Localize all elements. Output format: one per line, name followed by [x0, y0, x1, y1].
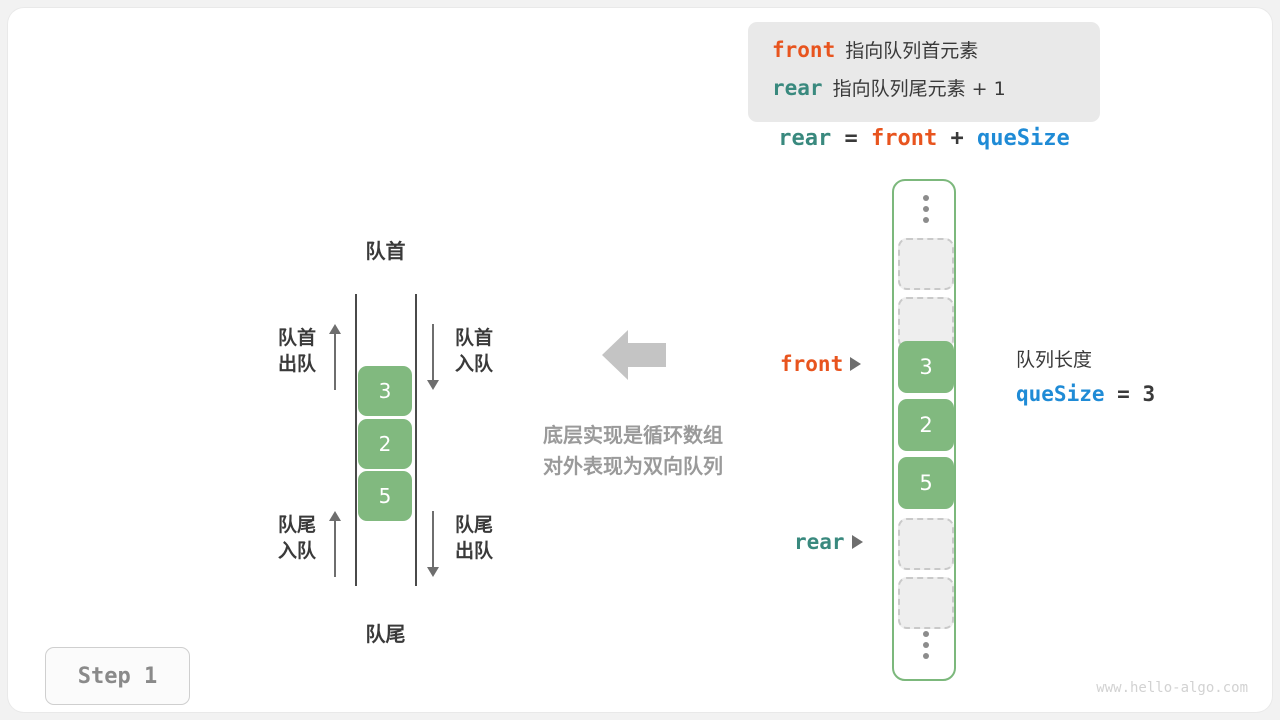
ellipsis-bottom-icon: [894, 631, 958, 659]
quesize-equals: =: [1117, 382, 1130, 406]
formula-rear-equals-front-plus-quesize: rear = front + queSize: [748, 126, 1100, 151]
pointer-rear: rear: [794, 530, 863, 554]
center-note: 底层实现是循环数组 对外表现为双向队列: [498, 420, 768, 482]
legend-desc-front: 指向队列首元素: [845, 36, 978, 63]
legend-row-rear: rear 指向队列尾元素 + 1: [772, 74, 1006, 101]
formula-plus: +: [951, 126, 964, 151]
diagram-card: front 指向队列首元素 rear 指向队列尾元素 + 1 rear = fr…: [8, 8, 1272, 712]
deque-rail-right: [415, 294, 417, 586]
legend-box: front 指向队列首元素 rear 指向队列尾元素 + 1: [748, 22, 1100, 122]
formula-rear: rear: [778, 126, 831, 151]
circular-array-frame: 3 2 5: [892, 179, 956, 681]
step-badge: Step 1: [45, 647, 190, 705]
deque-rail-left: [355, 294, 357, 586]
legend-row-front: front 指向队列首元素: [772, 36, 978, 63]
legend-key-front: front: [772, 38, 835, 62]
pointer-rear-label: rear: [794, 530, 845, 554]
array-slot-4[interactable]: 5: [898, 457, 954, 509]
op-label-head-dequeue: 队首出队: [256, 326, 316, 377]
op-label-tail-dequeue: 队尾出队: [455, 513, 493, 564]
op-label-tail-enqueue: 队尾入队: [256, 513, 316, 564]
pointer-front-label: front: [780, 352, 843, 376]
legend-desc-rear: 指向队列尾元素 + 1: [833, 74, 1006, 101]
legend-key-rear: rear: [772, 76, 823, 100]
arrow-down-head-enqueue-icon: [426, 324, 440, 394]
center-note-line1: 底层实现是循环数组: [498, 420, 768, 451]
deque-head-label: 队首: [308, 235, 463, 264]
pointer-rear-arrow-icon: [852, 535, 863, 549]
pointer-front: front: [780, 352, 861, 376]
arrow-down-tail-dequeue-icon: [426, 511, 440, 581]
quesize-title: 队列长度: [1016, 345, 1155, 372]
formula-quesize: queSize: [977, 126, 1070, 151]
array-slot-2[interactable]: 3: [898, 341, 954, 393]
quesize-expression: queSize = 3: [1016, 382, 1155, 406]
quesize-name: queSize: [1016, 382, 1105, 406]
quesize-value: 3: [1142, 382, 1155, 406]
array-slot-0[interactable]: [898, 238, 954, 290]
pointer-front-arrow-icon: [850, 357, 861, 371]
ellipsis-top-icon: [894, 195, 958, 223]
formula-equals: =: [845, 126, 858, 151]
op-label-head-enqueue: 队首入队: [455, 326, 493, 377]
big-left-arrow-icon: [602, 328, 666, 382]
formula-front: front: [871, 126, 937, 151]
arrow-up-head-dequeue-icon: [328, 324, 342, 394]
footer-watermark: www.hello-algo.com: [1018, 680, 1248, 696]
deque-tail-label: 队尾: [308, 618, 463, 647]
deque-cell-0[interactable]: 3: [358, 366, 412, 416]
array-slot-6[interactable]: [898, 577, 954, 629]
arrow-up-tail-enqueue-icon: [328, 511, 342, 581]
array-slot-5[interactable]: [898, 518, 954, 570]
center-note-line2: 对外表现为双向队列: [498, 451, 768, 482]
array-slot-3[interactable]: 2: [898, 399, 954, 451]
diagram-canvas: front 指向队列首元素 rear 指向队列尾元素 + 1 rear = fr…: [0, 0, 1280, 720]
deque-cell-2[interactable]: 5: [358, 471, 412, 521]
quesize-note: 队列长度 queSize = 3: [1016, 345, 1155, 406]
deque-cell-1[interactable]: 2: [358, 419, 412, 469]
